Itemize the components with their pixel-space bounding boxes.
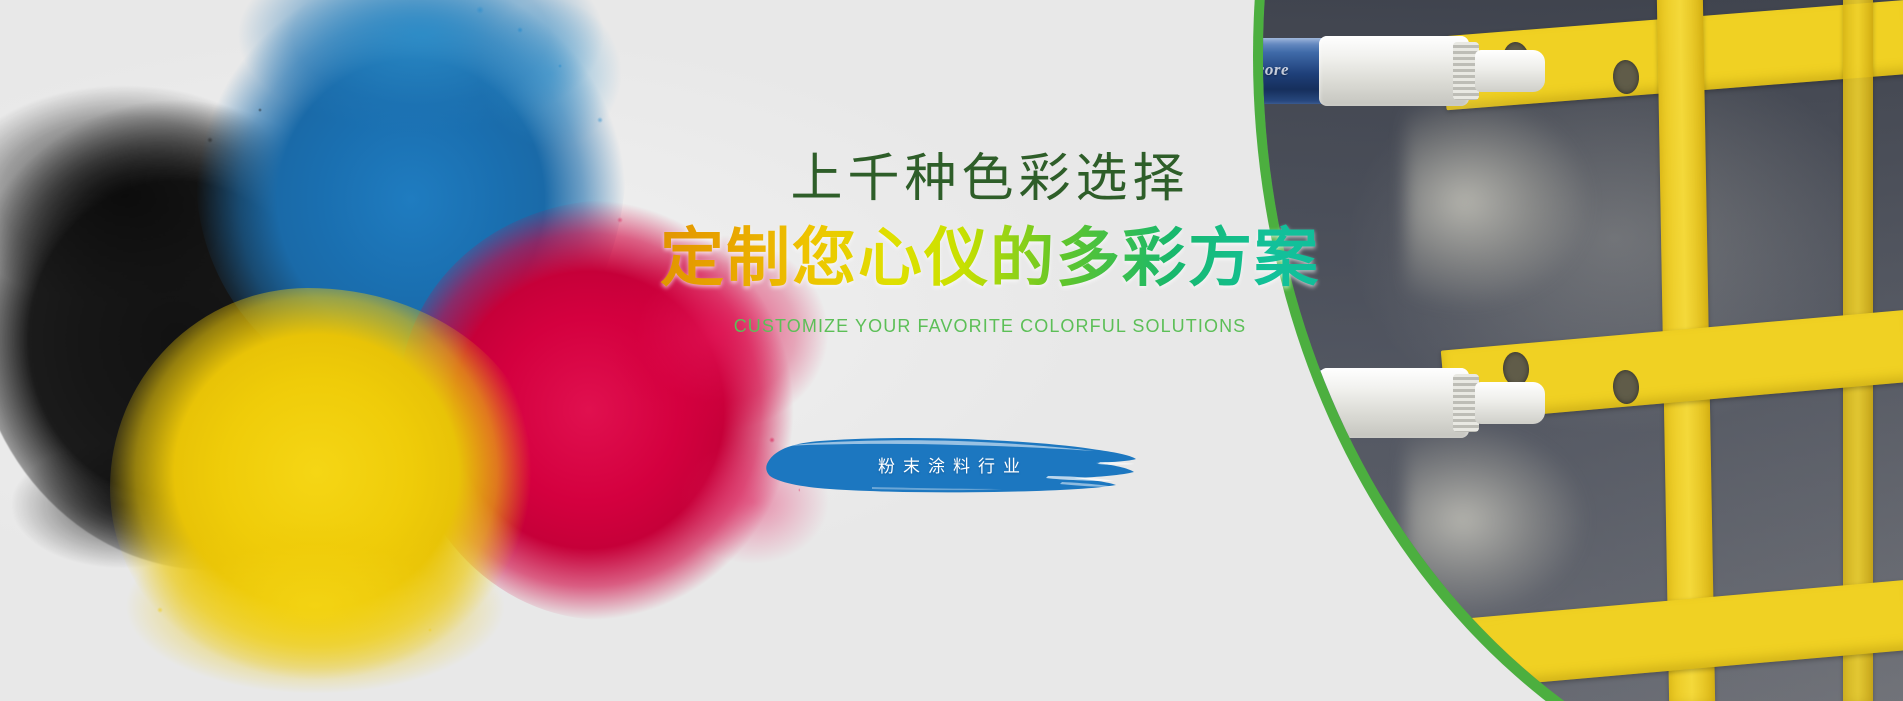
cmyk-powder-photo <box>0 0 800 701</box>
hero-banner: Encore 上千种色彩选择 定制您心仪的多彩方案 CUSTOMIZE YOUR… <box>0 0 1903 701</box>
spray-gun-nozzle <box>1475 50 1545 92</box>
headline-secondary: 定制您心仪的多彩方案 <box>640 224 1340 294</box>
industry-badge-label: 粉末涂料行业 <box>762 432 1138 496</box>
spray-gun-nozzle <box>1475 382 1545 424</box>
powder-spray-cloud <box>1405 70 1735 400</box>
hero-copy-block: 上千种色彩选择 定制您心仪的多彩方案 CUSTOMIZE YOUR FAVORI… <box>640 150 1340 337</box>
yellow-powder-pile <box>110 288 540 688</box>
industry-badge: 粉末涂料行业 <box>762 432 1138 496</box>
headline-primary: 上千种色彩选择 <box>640 150 1340 210</box>
spray-gun-collar <box>1319 36 1469 106</box>
subheadline-english: CUSTOMIZE YOUR FAVORITE COLORFUL SOLUTIO… <box>640 316 1340 337</box>
